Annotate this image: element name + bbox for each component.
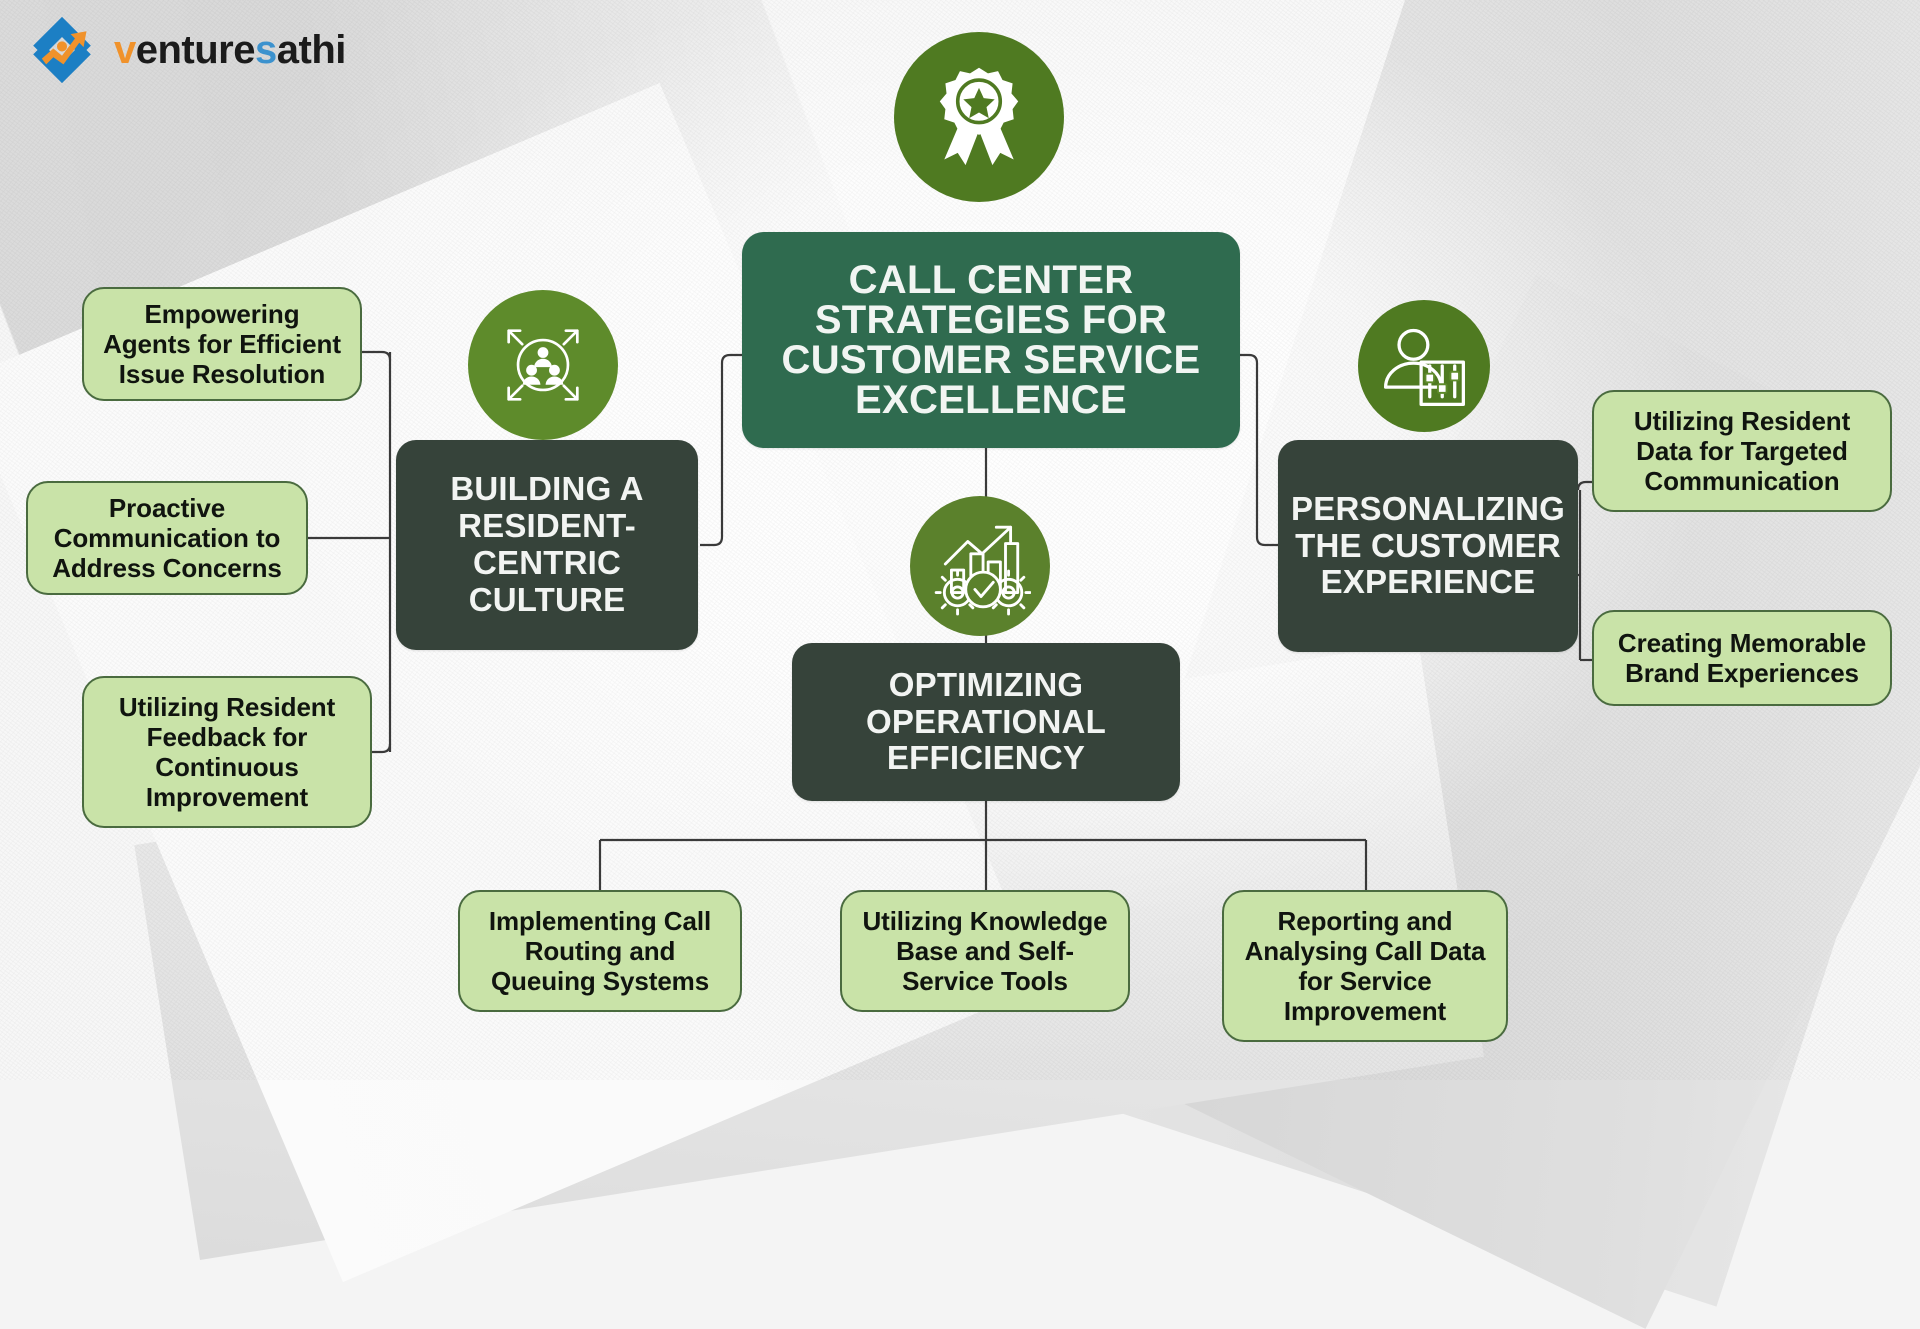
bar-chart-gears-glyph <box>929 515 1031 617</box>
leaf-label: Utilizing Resident Data for Targeted Com… <box>1608 406 1876 496</box>
leaf-node[interactable]: Reporting and Analysing Call Data for Se… <box>1222 890 1508 1042</box>
hub-node[interactable]: CALL CENTER STRATEGIES FOR CUSTOMER SERV… <box>742 232 1240 448</box>
leaf-label: Creating Memorable Brand Experiences <box>1608 628 1876 688</box>
hub-title: CALL CENTER STRATEGIES FOR CUSTOMER SERV… <box>764 260 1218 420</box>
leaf-label: Proactive Communication to Address Conce… <box>42 493 292 583</box>
infographic-canvas: venturesathi <box>0 0 1920 1080</box>
leaf-node[interactable]: Empowering Agents for Efficient Issue Re… <box>82 287 362 401</box>
brand-wordmark: venturesathi <box>114 30 346 70</box>
brand-part-3: s <box>255 28 277 72</box>
leaf-label: Implementing Call Routing and Queuing Sy… <box>474 906 726 996</box>
leaf-label: Reporting and Analysing Call Data for Se… <box>1238 906 1492 1027</box>
bar-chart-gears-check-icon <box>910 496 1050 636</box>
award-ribbon-icon <box>894 32 1064 202</box>
branch-node-optimizing-operational-efficiency[interactable]: OPTIMIZING OPERATIONAL EFFICIENCY <box>792 643 1180 801</box>
leaf-node[interactable]: Utilizing Resident Feedback for Continuo… <box>82 676 372 828</box>
brand-part-1: v <box>114 28 136 72</box>
branch-title: BUILDING A RESIDENT-CENTRIC CULTURE <box>416 471 678 619</box>
person-sliders-icon <box>1358 300 1490 432</box>
leaf-node[interactable]: Creating Memorable Brand Experiences <box>1592 610 1892 706</box>
leaf-label: Utilizing Resident Feedback for Continuo… <box>98 692 356 813</box>
branch-node-building-resident-centric-culture[interactable]: BUILDING A RESIDENT-CENTRIC CULTURE <box>396 440 698 650</box>
leaf-node[interactable]: Utilizing Resident Data for Targeted Com… <box>1592 390 1892 512</box>
leaf-label: Empowering Agents for Efficient Issue Re… <box>98 299 346 389</box>
leaf-node[interactable]: Implementing Call Routing and Queuing Sy… <box>458 890 742 1012</box>
people-network-arrows-icon <box>468 290 618 440</box>
people-network-glyph <box>491 313 595 417</box>
branch-title: PERSONALIZING THE CUSTOMER EXPERIENCE <box>1291 491 1565 602</box>
brand-part-2: enture <box>136 28 255 72</box>
leaf-label: Utilizing Knowledge Base and Self-Servic… <box>856 906 1114 996</box>
brand-part-4: athi <box>277 28 346 72</box>
chart-arrow-diamond-icon <box>26 14 98 86</box>
brand-logo[interactable]: venturesathi <box>26 14 346 86</box>
leaf-node[interactable]: Utilizing Knowledge Base and Self-Servic… <box>840 890 1130 1012</box>
person-sliders-glyph <box>1376 318 1472 414</box>
leaf-node[interactable]: Proactive Communication to Address Conce… <box>26 481 308 595</box>
branch-node-personalizing-the-customer-experience[interactable]: PERSONALIZING THE CUSTOMER EXPERIENCE <box>1278 440 1578 652</box>
branch-title: OPTIMIZING OPERATIONAL EFFICIENCY <box>812 667 1160 778</box>
award-ribbon-glyph <box>923 61 1035 173</box>
